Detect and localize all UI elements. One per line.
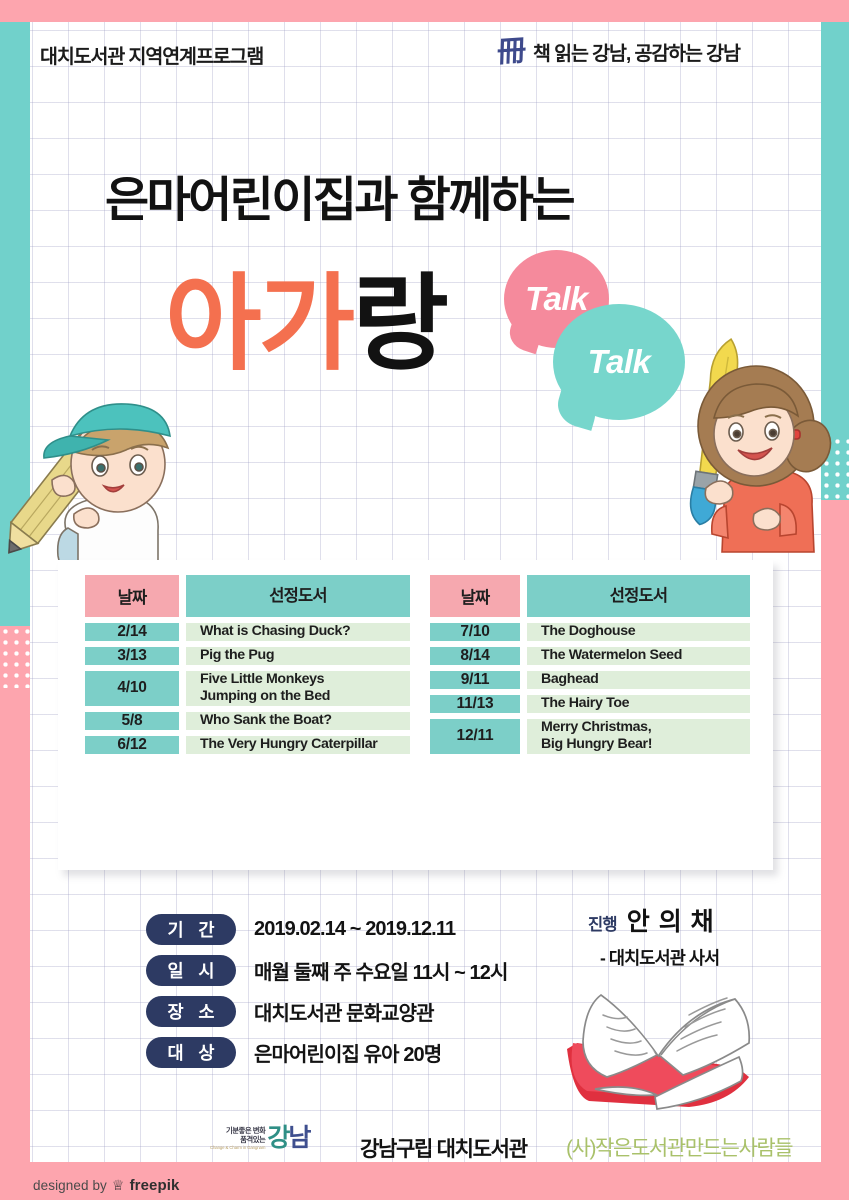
cell-book: What is Chasing Duck?	[186, 623, 410, 641]
gangnam-slogan-text: 책 읽는 강남, 공감하는 강남	[533, 37, 740, 66]
instructor-name: 안 의 채	[627, 902, 715, 938]
cell-date: 12/11	[430, 719, 520, 754]
cell-date: 2/14	[85, 623, 179, 641]
cell-book: Five Little MonkeysJumping on the Bed	[186, 671, 410, 706]
info-label-audience: 대 상	[146, 1037, 236, 1068]
column-header-book: 선정도서	[527, 575, 750, 617]
poster-title: 아가랑	[165, 272, 446, 377]
info-row-audience: 대 상 은마어린이집 유아 20명	[146, 1036, 508, 1068]
cell-date: 3/13	[85, 647, 179, 665]
table-row: 2/14 What is Chasing Duck?	[85, 623, 410, 641]
schedule-table-left: 날짜 선정도서 2/14 What is Chasing Duck? 3/13 …	[85, 575, 410, 754]
instructor-label: 진행	[588, 911, 617, 935]
freepik-credit: designed by ♕ freepik	[33, 1177, 179, 1194]
column-header-date: 날짜	[430, 575, 520, 617]
cell-date: 8/14	[430, 647, 520, 665]
cell-book: Who Sank the Boat?	[186, 712, 410, 730]
info-value-place: 대치도서관 문화교양관	[254, 997, 434, 1026]
cell-book: Merry Christmas,Big Hungry Bear!	[527, 719, 750, 754]
table-header-row: 날짜 선정도서	[85, 575, 410, 617]
schedule-tables: 날짜 선정도서 2/14 What is Chasing Duck? 3/13 …	[85, 575, 750, 754]
table-row: 4/10 Five Little MonkeysJumping on the B…	[85, 671, 410, 706]
speech-bubble-teal: Talk	[553, 304, 685, 420]
speech-bubble-teal-label: Talk	[588, 343, 651, 381]
info-value-datetime: 매월 둘째 주 수요일 11시 ~ 12시	[254, 956, 508, 985]
cell-date: 9/11	[430, 671, 520, 689]
table-row: 3/13 Pig the Pug	[85, 647, 410, 665]
info-value-audience: 은마어린이집 유아 20명	[254, 1038, 441, 1067]
gangnam-slogan-group: 冊 책 읽는 강남, 공감하는 강남	[497, 37, 740, 66]
schedule-table-right: 날짜 선정도서 7/10 The Doghouse 8/14 The Water…	[430, 575, 750, 754]
cell-book: The Doghouse	[527, 623, 750, 641]
footer-library-name: 강남구립 대치도서관	[360, 1133, 527, 1163]
info-label-period: 기 간	[146, 914, 236, 945]
speech-bubble-pink-label: Talk	[525, 280, 588, 318]
cell-date: 11/13	[430, 695, 520, 713]
footer-organization-name: (사)작은도서관만드는사람들	[566, 1132, 792, 1162]
table-row: 7/10 The Doghouse	[430, 623, 750, 641]
cell-book: The Watermelon Seed	[527, 647, 750, 665]
gangnam-logo-line2: 품격있는	[240, 1136, 265, 1144]
info-label-datetime: 일 시	[146, 955, 236, 986]
gangnam-mark-nam: 남	[288, 1124, 309, 1152]
table-row: 6/12 The Very Hungry Caterpillar	[85, 736, 410, 754]
info-row-datetime: 일 시 매월 둘째 주 수요일 11시 ~ 12시	[146, 954, 508, 986]
table-row: 12/11 Merry Christmas,Big Hungry Bear!	[430, 719, 750, 754]
poster-subtitle: 은마어린이집과 함께하는	[105, 160, 573, 230]
program-header-title: 대치도서관 지역연계프로그램	[40, 40, 263, 69]
table-row: 5/8 Who Sank the Boat?	[85, 712, 410, 730]
gangnam-mark-gang: 강	[267, 1124, 288, 1152]
cell-book: The Very Hungry Caterpillar	[186, 736, 410, 754]
table-header-row: 날짜 선정도서	[430, 575, 750, 617]
info-label-place: 장 소	[146, 996, 236, 1027]
cell-date: 4/10	[85, 671, 179, 706]
gangnam-gu-logo: 기분좋은 변화 품격있는 Change & Charm in Gangnam 강…	[210, 1127, 309, 1151]
instructor-block: 진행 안 의 채 - 대치도서관 사서	[588, 902, 719, 970]
open-book-illustration	[555, 985, 770, 1120]
column-header-date: 날짜	[85, 575, 179, 617]
freepik-crown-icon: ♕	[112, 1177, 125, 1194]
poster-title-orange: 아가	[165, 266, 352, 383]
cell-book: The Hairy Toe	[527, 695, 750, 713]
instructor-name-line: 진행 안 의 채	[588, 902, 719, 938]
column-header-book: 선정도서	[186, 575, 410, 617]
table-row: 9/11 Baghead	[430, 671, 750, 689]
freepik-brand-name: freepik	[130, 1177, 180, 1194]
cell-book: Baghead	[527, 671, 750, 689]
info-row-place: 장 소 대치도서관 문화교양관	[146, 995, 508, 1027]
top-pink-band	[0, 0, 849, 22]
girl-with-paintbrush-illustration	[668, 338, 838, 568]
poster-title-black: 랑	[352, 266, 446, 383]
program-info-list: 기 간 2019.02.14 ~ 2019.12.11 일 시 매월 둘째 주 …	[146, 913, 508, 1077]
instructor-role: - 대치도서관 사서	[600, 945, 719, 970]
info-row-period: 기 간 2019.02.14 ~ 2019.12.11	[146, 913, 508, 945]
left-polka-dot-strip	[0, 626, 30, 688]
boy-with-pencil-illustration	[8, 392, 198, 572]
freepik-credit-prefix: designed by	[33, 1178, 107, 1193]
cell-date: 6/12	[85, 736, 179, 754]
gangnam-logo-text: 기분좋은 변화 품격있는 Change & Charm in Gangnam	[210, 1127, 265, 1150]
cell-date: 5/8	[85, 712, 179, 730]
cell-date: 7/10	[430, 623, 520, 641]
book-character-logo-icon: 冊	[496, 36, 526, 67]
info-value-period: 2019.02.14 ~ 2019.12.11	[254, 918, 455, 941]
table-row: 8/14 The Watermelon Seed	[430, 647, 750, 665]
gangnam-logo-tagline: Change & Charm in Gangnam	[210, 1146, 265, 1151]
gangnam-logo-mark: 강남	[267, 1127, 309, 1151]
table-row: 11/13 The Hairy Toe	[430, 695, 750, 713]
poster-canvas: 대치도서관 지역연계프로그램 冊 책 읽는 강남, 공감하는 강남 은마어린이집…	[0, 0, 849, 1200]
cell-book: Pig the Pug	[186, 647, 410, 665]
